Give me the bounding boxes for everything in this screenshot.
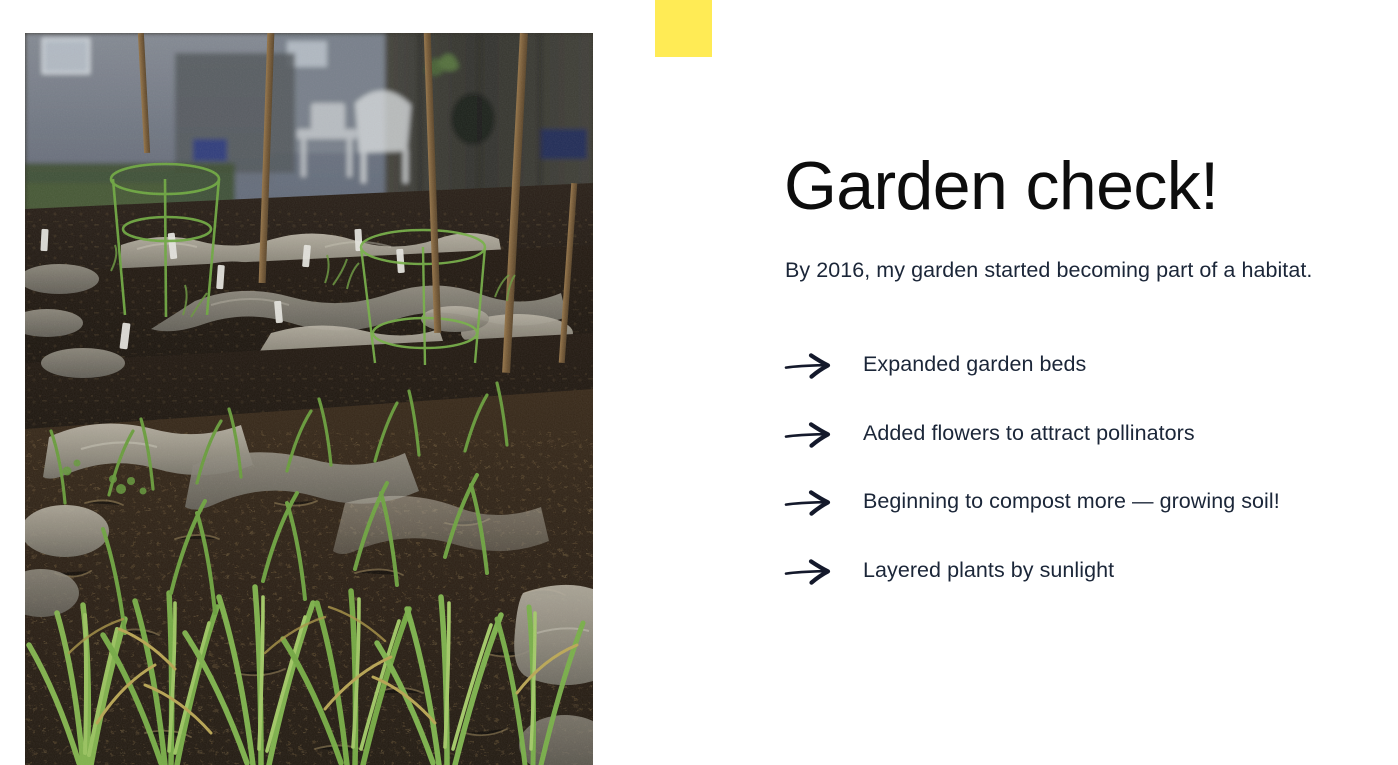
garden-photograph [25, 33, 593, 765]
slide-subtitle: By 2016, my garden started becoming part… [785, 252, 1315, 289]
bullet-list: Expanded garden beds Added flowers to at… [784, 349, 1364, 623]
arrow-right-icon [784, 559, 840, 585]
text-content-column: Garden check! By 2016, my garden started… [784, 0, 1364, 765]
slide-canvas: Garden check! By 2016, my garden started… [0, 0, 1398, 765]
list-item: Expanded garden beds [784, 349, 1364, 418]
yellow-accent-block [655, 0, 712, 57]
list-item-label: Beginning to compost more — growing soil… [863, 486, 1280, 516]
list-item: Layered plants by sunlight [784, 555, 1364, 624]
list-item-label: Expanded garden beds [863, 349, 1086, 379]
garden-photo-graphic [25, 33, 593, 765]
list-item: Beginning to compost more — growing soil… [784, 486, 1364, 555]
list-item-label: Layered plants by sunlight [863, 555, 1114, 585]
arrow-right-icon [784, 353, 840, 379]
arrow-right-icon [784, 422, 840, 448]
slide-title: Garden check! [784, 147, 1218, 225]
list-item: Added flowers to attract pollinators [784, 418, 1364, 487]
arrow-right-icon [784, 490, 840, 516]
list-item-label: Added flowers to attract pollinators [863, 418, 1195, 448]
